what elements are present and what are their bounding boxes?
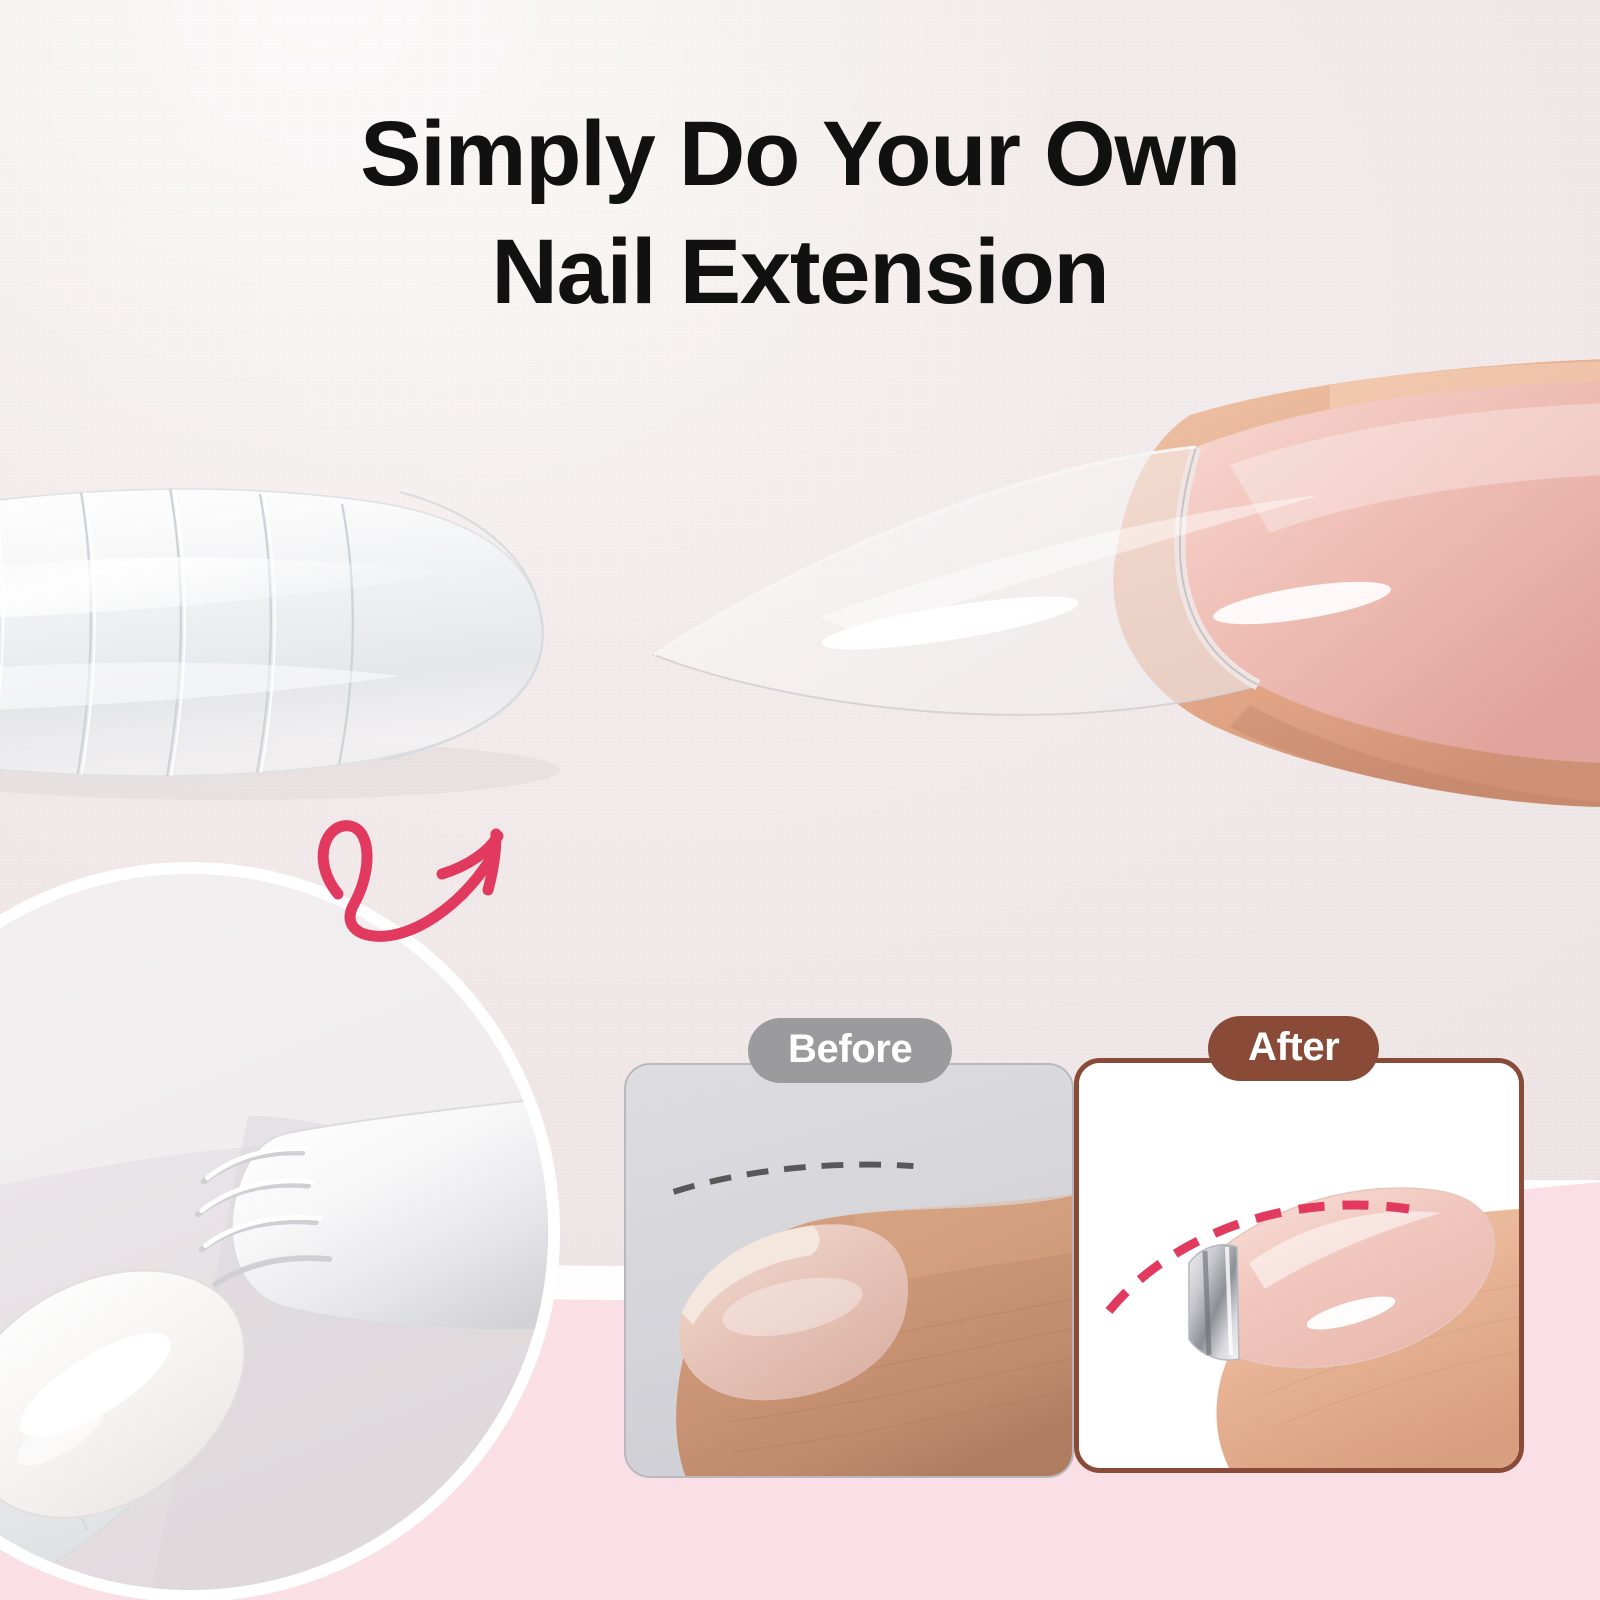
after-card bbox=[1074, 1058, 1524, 1473]
after-badge: After bbox=[1208, 1016, 1379, 1081]
before-photo bbox=[626, 1065, 1072, 1476]
headline-line-2: Nail Extension bbox=[0, 214, 1600, 332]
headline-line-1: Simply Do Your Own bbox=[0, 96, 1600, 214]
product-poster: Simply Do Your Own Nail Extension bbox=[0, 0, 1600, 1600]
before-card bbox=[624, 1063, 1074, 1478]
curly-arrow-icon bbox=[292, 798, 552, 948]
nail-form-photo bbox=[0, 470, 630, 800]
headline-block: Simply Do Your Own Nail Extension bbox=[0, 96, 1600, 332]
gel-application-inset bbox=[0, 862, 560, 1600]
gel-application-photo bbox=[0, 874, 548, 1590]
after-photo bbox=[1079, 1063, 1519, 1468]
before-badge: Before bbox=[748, 1018, 952, 1083]
finger-with-nail-tip-photo bbox=[630, 355, 1600, 825]
